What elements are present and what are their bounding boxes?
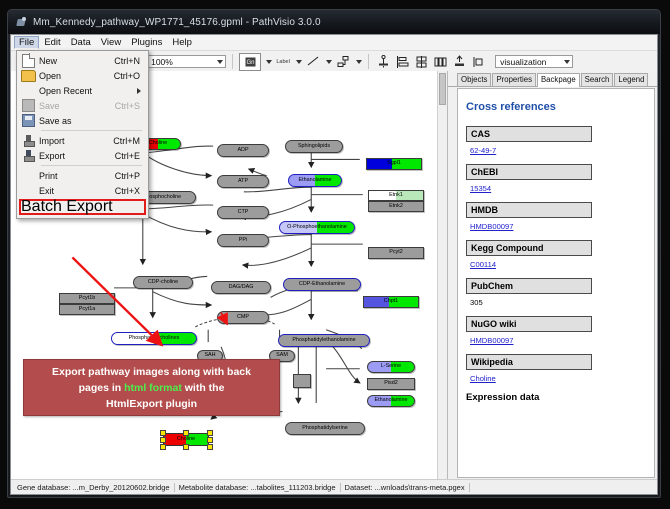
anchor-icon[interactable] — [375, 54, 391, 70]
callout-annotation: Export pathway images along with back pa… — [23, 359, 280, 416]
menu-plugins[interactable]: Plugins — [126, 36, 167, 49]
node-ethanolamine-2[interactable]: Ethanolamine — [367, 395, 415, 407]
node-ethanolamine[interactable]: Ethanolamine — [288, 174, 342, 187]
selection-handle-ne[interactable] — [207, 430, 213, 436]
menu-file[interactable]: File — [14, 36, 39, 49]
node-pisd2[interactable]: Pisd2 — [367, 378, 415, 390]
xref-header-chebi: ChEBI — [466, 164, 592, 180]
tab-legend[interactable]: Legend — [614, 73, 648, 86]
status-gene-database: Gene database: ...m_Derby_20120602.bridg… — [11, 483, 175, 492]
export-icon — [17, 150, 39, 162]
import-icon — [17, 135, 39, 147]
node-sgpl1[interactable]: Sgpl1 — [366, 158, 422, 170]
file-menu-open-recent-label: Open Recent — [39, 86, 137, 96]
node-cdp-ethanolamine[interactable]: CDP-Ethanolamine — [283, 278, 361, 291]
file-menu-item-open[interactable]: Open Ctrl+O — [17, 68, 148, 83]
expression-data-title: Expression data — [466, 392, 646, 403]
menu-data[interactable]: Data — [66, 36, 96, 49]
xref-value-wikipedia[interactable]: Choline — [470, 374, 646, 383]
interaction-tool-dropdown-icon[interactable] — [356, 60, 362, 64]
pathvisio-icon — [16, 17, 27, 28]
node-ctp[interactable]: CTP — [217, 206, 269, 219]
submenu-arrow-icon — [137, 88, 141, 94]
node-o-phosphoethanolamine[interactable]: O-Phosphoethanolamine — [279, 221, 355, 234]
file-menu-item-export[interactable]: Export Ctrl+E — [17, 148, 148, 163]
selection-handle-nw[interactable] — [160, 430, 166, 436]
menu-separator-2 — [41, 165, 142, 166]
shape-tool-dropdown-icon[interactable] — [266, 60, 272, 64]
selection-handle-sw[interactable] — [160, 444, 166, 450]
tab-objects[interactable]: Objects — [457, 73, 491, 86]
node-chpt1[interactable]: Chpt1 — [363, 296, 419, 308]
selection-handle-w[interactable] — [160, 437, 166, 443]
node-anchor-block[interactable] — [293, 374, 311, 388]
xref-header-nugo-wiki: NuGO wiki — [466, 316, 592, 332]
xref-header-kegg-compound: Kegg Compound — [466, 240, 592, 256]
file-menu-new-label: New — [39, 56, 114, 66]
line-tool-icon[interactable] — [305, 54, 321, 70]
file-menu-save-accel: Ctrl+S — [115, 101, 148, 111]
canvas-vertical-scrollbar[interactable] — [437, 71, 447, 480]
file-menu-open-label: Open — [39, 71, 114, 81]
selection-handle-se[interactable] — [207, 444, 213, 450]
file-menu-item-batch-export[interactable]: Batch Export — [19, 199, 146, 215]
node-phosphatidylserine[interactable]: Phosphatidylserine — [285, 422, 365, 435]
file-menu-import-label: Import — [39, 136, 113, 146]
callout-line1: Export pathway images along with back — [52, 366, 251, 378]
selection-handle-s[interactable] — [183, 444, 189, 450]
xref-header-hmdb: HMDB — [466, 202, 592, 218]
callout-line2-post: with the — [182, 382, 225, 394]
node-phosphatidylcholines[interactable]: Phosphatidylcholines — [111, 332, 197, 345]
cross-references-title: Cross references — [466, 101, 646, 113]
xref-header-wikipedia: Wikipedia — [466, 354, 592, 370]
file-menu-item-open-recent[interactable]: Open Recent — [17, 83, 148, 98]
status-metabolite-database: Metabolite database: ...tabolites_111203… — [175, 483, 341, 492]
file-menu-item-save[interactable]: Save Ctrl+S — [17, 98, 148, 113]
file-menu-export-label: Export — [39, 151, 115, 161]
xref-value-hmdb[interactable]: HMDB00097 — [470, 222, 646, 231]
backpage-content: Cross references CAS 62-49-7 ChEBI 15354… — [457, 88, 655, 478]
side-panel-tabs: Objects Properties Backpage Search Legen… — [448, 71, 657, 87]
label-tool-button[interactable]: Label — [275, 54, 291, 70]
file-menu-open-accel: Ctrl+O — [114, 71, 148, 81]
xref-header-cas: CAS — [466, 126, 592, 142]
file-menu-item-save-as[interactable]: Save as — [17, 113, 148, 128]
chevron-down-icon — [217, 60, 223, 64]
window-client-area: File Edit Data View Plugins Help Zoom: 1… — [10, 34, 658, 495]
file-menu-save-label: Save — [39, 101, 115, 111]
interaction-tool-icon[interactable] — [335, 54, 351, 70]
tab-backpage[interactable]: Backpage — [537, 73, 580, 87]
file-menu-new-accel: Ctrl+N — [114, 56, 148, 66]
distribute-icon[interactable] — [432, 54, 448, 70]
shape-tool-icon[interactable]: Gn — [239, 53, 261, 71]
node-ppi[interactable]: PPi — [217, 234, 269, 247]
menu-help[interactable]: Help — [167, 36, 197, 49]
file-menu-batch-export-label: Batch Export — [21, 198, 113, 216]
file-menu-exit-accel: Ctrl+X — [115, 186, 148, 196]
tab-search[interactable]: Search — [581, 73, 614, 86]
file-menu-item-import[interactable]: Import Ctrl+M — [17, 133, 148, 148]
file-menu-item-new[interactable]: New Ctrl+N — [17, 53, 148, 68]
file-menu-print-accel: Ctrl+P — [115, 171, 148, 181]
line-tool-dropdown-icon[interactable] — [326, 60, 332, 64]
node-sphingolipids[interactable]: Sphingolipids — [285, 140, 343, 153]
file-menu-import-accel: Ctrl+M — [113, 136, 148, 146]
open-folder-icon — [17, 70, 39, 82]
xref-value-pubchem: 305 — [470, 298, 646, 307]
callout-line2-pre: pages in — [79, 382, 125, 394]
node-adp[interactable]: ADP — [217, 144, 269, 157]
visualization-combobox[interactable]: visualization — [495, 55, 573, 68]
node-cdp-choline[interactable]: CDP-choline — [133, 276, 193, 289]
menu-edit[interactable]: Edit — [39, 36, 65, 49]
toolbar-separator — [232, 54, 233, 69]
node-phosphatidylethanolamine[interactable]: Phosphatidylethanolamine — [278, 334, 370, 347]
node-cmp[interactable]: CMP — [217, 311, 269, 324]
visualization-value: visualization — [500, 57, 546, 67]
canvas-scroll-thumb[interactable] — [439, 73, 446, 105]
zoom-value: 100% — [151, 57, 173, 67]
node-pcyt2[interactable]: Pcyt2 — [368, 247, 424, 259]
label-tool-label: Label — [276, 59, 289, 65]
xref-value-chebi[interactable]: 15354 — [470, 184, 646, 193]
node-l-serine[interactable]: L-Serine — [367, 361, 415, 373]
xref-value-cas[interactable]: 62-49-7 — [470, 146, 646, 155]
menu-view[interactable]: View — [96, 36, 126, 49]
node-etnk2[interactable]: Etnk2 — [368, 201, 424, 212]
align-center-icon[interactable] — [413, 54, 429, 70]
node-pcyt1a[interactable]: Pcyt1a — [59, 304, 115, 315]
file-menu-item-print[interactable]: Print Ctrl+P — [17, 168, 148, 183]
xref-value-kegg-compound[interactable]: C00114 — [470, 260, 646, 269]
menu-separator-1 — [41, 130, 142, 131]
toolbar-separator-2 — [368, 54, 369, 69]
label-tool-dropdown-icon[interactable] — [296, 60, 302, 64]
new-document-icon — [17, 54, 39, 68]
xref-header-pubchem: PubChem — [466, 278, 592, 294]
xref-value-nugo-wiki[interactable]: HMDB00097 — [470, 336, 646, 345]
stack-icon[interactable] — [451, 54, 467, 70]
zoom-combobox[interactable]: 100% — [146, 55, 226, 68]
selection-handle-n[interactable] — [183, 430, 189, 436]
file-menu-export-accel: Ctrl+E — [115, 151, 148, 161]
file-menu-exit-label: Exit — [39, 186, 115, 196]
group-icon[interactable] — [470, 54, 486, 70]
file-menu-save-as-label: Save as — [39, 116, 140, 126]
save-icon — [17, 99, 39, 112]
window-title: Mm_Kennedy_pathway_WP1771_45176.gpml - P… — [33, 17, 321, 28]
status-bar: Gene database: ...m_Derby_20120602.bridg… — [11, 479, 657, 494]
file-menu-dropdown: New Ctrl+N Open Ctrl+O Open Recent Save … — [16, 50, 149, 219]
desktop-background: Mm_Kennedy_pathway_WP1771_45176.gpml - P… — [0, 0, 670, 509]
save-as-icon — [17, 114, 39, 127]
chevron-down-icon-2 — [564, 60, 570, 64]
node-dag[interactable]: DAG/DAG — [211, 281, 271, 294]
align-left-icon[interactable] — [394, 54, 410, 70]
node-pcyt1b[interactable]: Pcyt1b — [59, 293, 115, 304]
menu-bar: File Edit Data View Plugins Help — [11, 35, 657, 51]
callout-line3: HtmlExport plugin — [106, 398, 197, 410]
file-menu-item-exit[interactable]: Exit Ctrl+X — [17, 183, 148, 198]
file-menu-print-label: Print — [39, 171, 115, 181]
node-etnk1[interactable]: Etnk1 — [368, 190, 424, 201]
svg-text:Gn: Gn — [246, 60, 254, 66]
node-atp[interactable]: ATP — [217, 175, 269, 188]
pathvisio-window: Mm_Kennedy_pathway_WP1771_45176.gpml - P… — [7, 9, 661, 498]
tab-properties[interactable]: Properties — [492, 73, 536, 86]
callout-line2-highlight: html format — [124, 382, 182, 394]
side-panel: Objects Properties Backpage Search Legen… — [448, 71, 657, 480]
selection-handle-e[interactable] — [207, 437, 213, 443]
title-bar: Mm_Kennedy_pathway_WP1771_45176.gpml - P… — [8, 10, 660, 34]
status-dataset: Dataset: ...wnloads\trans-meta.pgex — [341, 483, 470, 492]
